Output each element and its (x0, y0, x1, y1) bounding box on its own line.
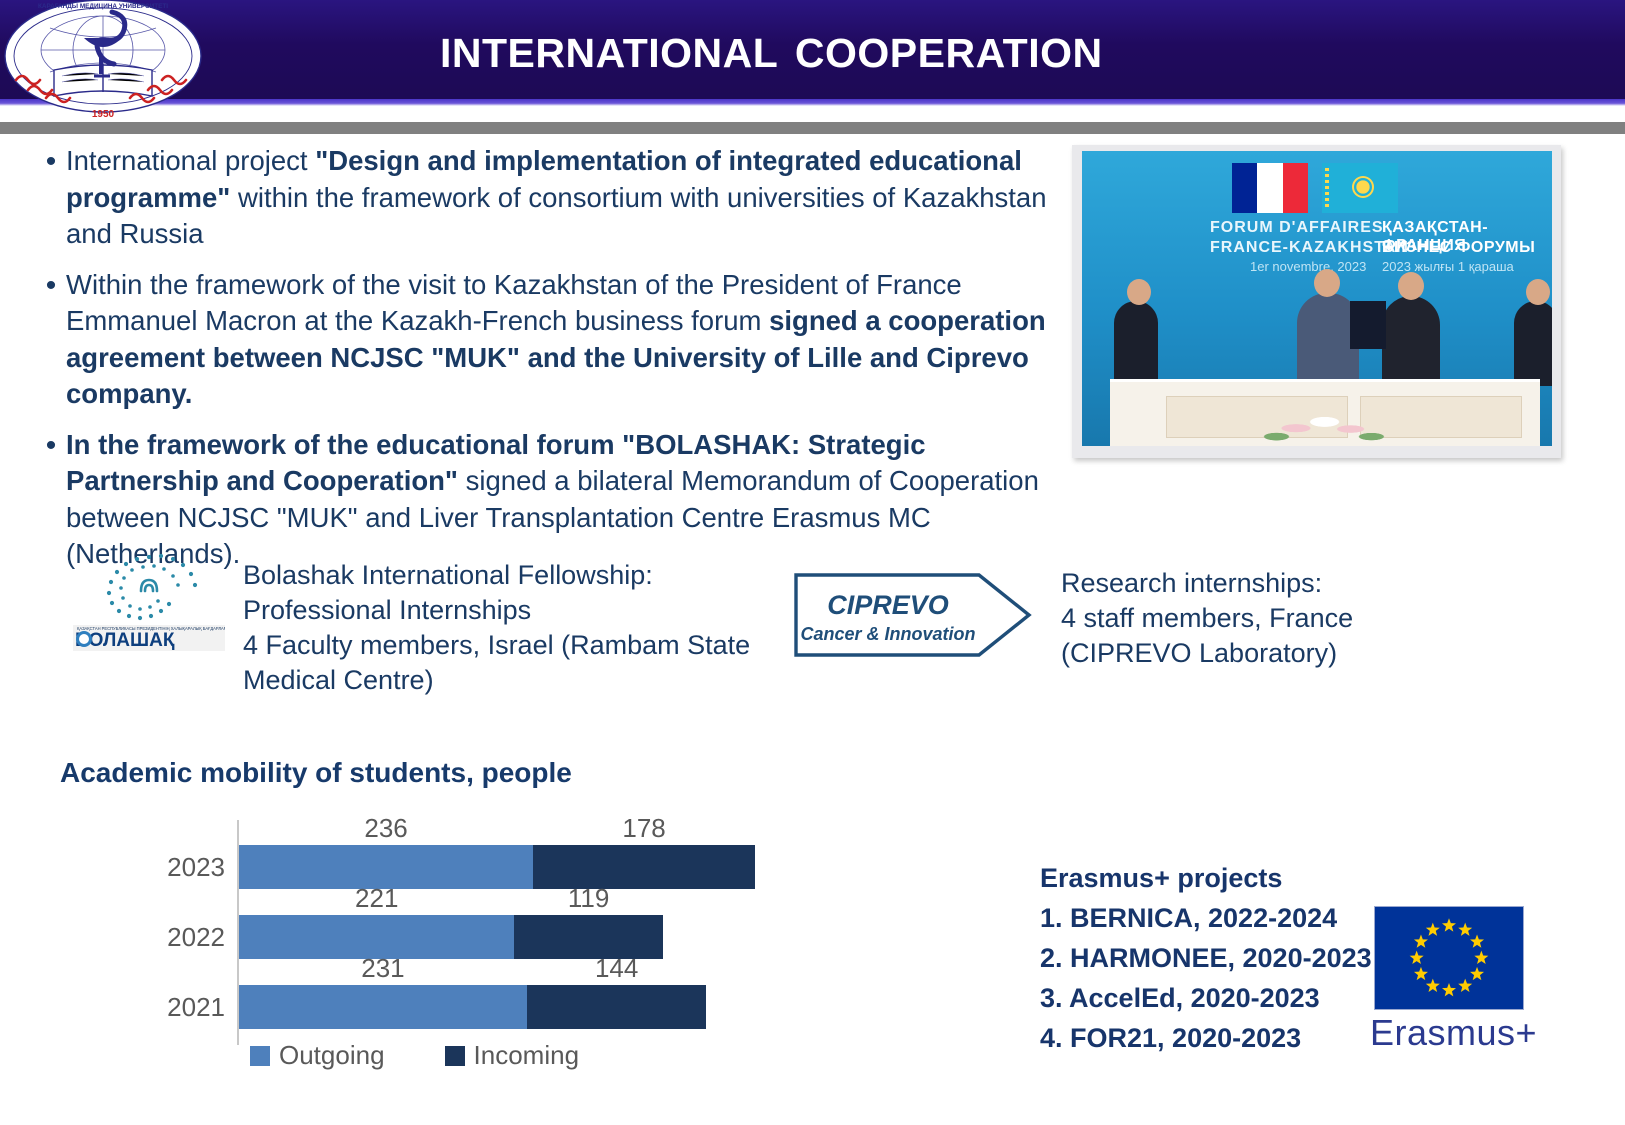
photo-caption-kz-date: 2023 жылғы 1 қараша (1382, 259, 1514, 274)
erasmus-heading: Erasmus+ projects (1040, 858, 1372, 898)
chart-data-label: 231 (361, 953, 404, 984)
eu-star-icon (1458, 979, 1472, 992)
eu-star-icon (1426, 979, 1440, 992)
bolashak-logo: ҚАЗАҚСТАН РЕСПУБЛИКАСЫ ПРЕЗИДЕНТІНІҢ ХАЛ… (73, 533, 225, 651)
slide-canvas: International cooperation (0, 0, 1625, 1125)
list-item: • International project "Design and impl… (36, 143, 1058, 253)
chart-data-label: 236 (364, 813, 407, 844)
photo-person-signer-right-head (1398, 272, 1424, 300)
flag-kazakhstan-icon (1322, 163, 1398, 213)
photo-person-right-head (1526, 279, 1550, 305)
ciprevo-line-3: (CIPREVO Laboratory) (1061, 636, 1461, 671)
university-logo: 1950 КАРАГАНДЫ МЕДИЦИНА УНИВЕРСИТЕТІ (2, 0, 207, 126)
bullet-dot-icon: • (36, 427, 66, 464)
chart-bar-segment-outgoing (239, 985, 527, 1029)
european-union-flag-icon (1374, 906, 1524, 1010)
eu-star-icon (1426, 923, 1440, 936)
header-divider (0, 122, 1625, 134)
erasmus-project-1: 1. BERNICA, 2022-2024 (1040, 898, 1372, 938)
photo-flowers (1257, 403, 1387, 445)
forum-photo: FORUM D'AFFAIRES FRANCE-KAZAKHSTAN 1er n… (1072, 145, 1561, 458)
eu-star-icon (1414, 934, 1428, 947)
logo-year: 1950 (92, 109, 115, 120)
chart-category-label: 2022 (90, 915, 225, 959)
ciprevo-line-2: 4 staff members, France (1061, 601, 1461, 636)
bolashak-description: Bolashak International Fellowship: Profe… (243, 558, 783, 698)
erasmus-projects-block: Erasmus+ projects 1. BERNICA, 2022-2024 … (1040, 858, 1372, 1058)
photo-caption-fr-2: FRANCE-KAZAKHSTAN (1210, 239, 1409, 257)
eu-star-icon (1410, 951, 1424, 964)
header-accent-line (0, 99, 1625, 106)
chart-data-label: 144 (595, 953, 638, 984)
chart-data-label: 178 (622, 813, 665, 844)
ciprevo-logo: CIPREVO Cancer & Innovation (793, 572, 1033, 658)
ciprevo-subtitle: Cancer & Innovation (800, 624, 975, 644)
chart-category-label: 2023 (90, 845, 225, 889)
photo-caption-fr-date: 1er novembre, 2023 (1250, 259, 1366, 274)
chart-stacked-bar (239, 845, 755, 889)
photo-caption-kz-2: БИЗНЕС ФОРУМЫ (1382, 239, 1535, 257)
chart-stacked-bar (239, 985, 706, 1029)
photo-person-right (1514, 301, 1552, 386)
ciprevo-description: Research internships: 4 staff members, F… (1061, 566, 1461, 671)
chart-data-label: 119 (568, 883, 609, 914)
chart-bar-segment-incoming (514, 915, 662, 959)
erasmus-project-2: 2. HARMONEE, 2020-2023 (1040, 938, 1372, 978)
chart-category-label: 2021 (90, 985, 225, 1029)
bullet-text-1: International project "Design and implem… (66, 143, 1058, 253)
ciprevo-title: CIPREVO (827, 590, 949, 620)
eu-star-icon (1458, 923, 1472, 936)
bolashak-line-3: 4 Faculty members, Israel (Rambam State (243, 628, 783, 663)
photo-caption-fr-1: FORUM D'AFFAIRES (1210, 219, 1384, 237)
photo-person-left (1114, 301, 1158, 386)
bullet-dot-icon: • (36, 143, 66, 180)
photo-person-left-head (1127, 279, 1151, 305)
chart-legend-item[interactable]: Outgoing (250, 1040, 385, 1071)
eu-star-icon (1442, 983, 1456, 996)
eu-star-icon (1470, 934, 1484, 947)
chart-legend: OutgoingIncoming (250, 1040, 579, 1071)
bullet-dot-icon: • (36, 267, 66, 304)
bolashak-line-1: Bolashak International Fellowship: (243, 558, 783, 593)
flag-france-icon (1232, 163, 1308, 213)
eu-star-icon (1442, 918, 1456, 931)
chart-legend-label: Incoming (474, 1040, 580, 1071)
bullet-text-2: Within the framework of the visit to Kaz… (66, 267, 1058, 413)
ciprevo-line-1: Research internships: (1061, 566, 1461, 601)
erasmus-project-4: 4. FOR21, 2020-2023 (1040, 1018, 1372, 1058)
photo-signed-folder (1350, 301, 1386, 349)
bullet-list: • International project "Design and impl… (36, 143, 1058, 587)
page-title: International cooperation (440, 14, 1440, 81)
list-item: • Within the framework of the visit to K… (36, 267, 1058, 413)
chart-bar-row: 2021231144 (60, 985, 720, 1029)
svg-text:КАРАГАНДЫ МЕДИЦИНА УНИВЕРСИТЕТ: КАРАГАНДЫ МЕДИЦИНА УНИВЕРСИТЕТІ (38, 3, 168, 10)
photo-person-signer-left-head (1314, 269, 1340, 297)
chart-data-label: 221 (355, 883, 398, 914)
photo-flags (1232, 163, 1398, 213)
eu-star-icon (1414, 967, 1428, 980)
chart-title: Academic mobility of students, people (60, 757, 572, 789)
photo-person-signer-right (1382, 296, 1440, 388)
chart-bar-segment-incoming (527, 985, 706, 1029)
chart-bar-segment-incoming (533, 845, 755, 889)
erasmus-project-3: 3. AccelEd, 2020-2023 (1040, 978, 1372, 1018)
eu-star-icon (1470, 967, 1484, 980)
eu-star-icon (1474, 951, 1488, 964)
chart-legend-label: Outgoing (279, 1040, 385, 1071)
bolashak-line-2: Professional Internships (243, 593, 783, 628)
erasmus-wordmark: Erasmus+ (1370, 1012, 1537, 1054)
chart-legend-item[interactable]: Incoming (445, 1040, 580, 1071)
forum-photo-image: FORUM D'AFFAIRES FRANCE-KAZAKHSTAN 1er n… (1082, 151, 1552, 446)
chart-legend-swatch (445, 1046, 465, 1066)
bolashak-line-4: Medical Centre) (243, 663, 783, 698)
chart-legend-swatch (250, 1046, 270, 1066)
